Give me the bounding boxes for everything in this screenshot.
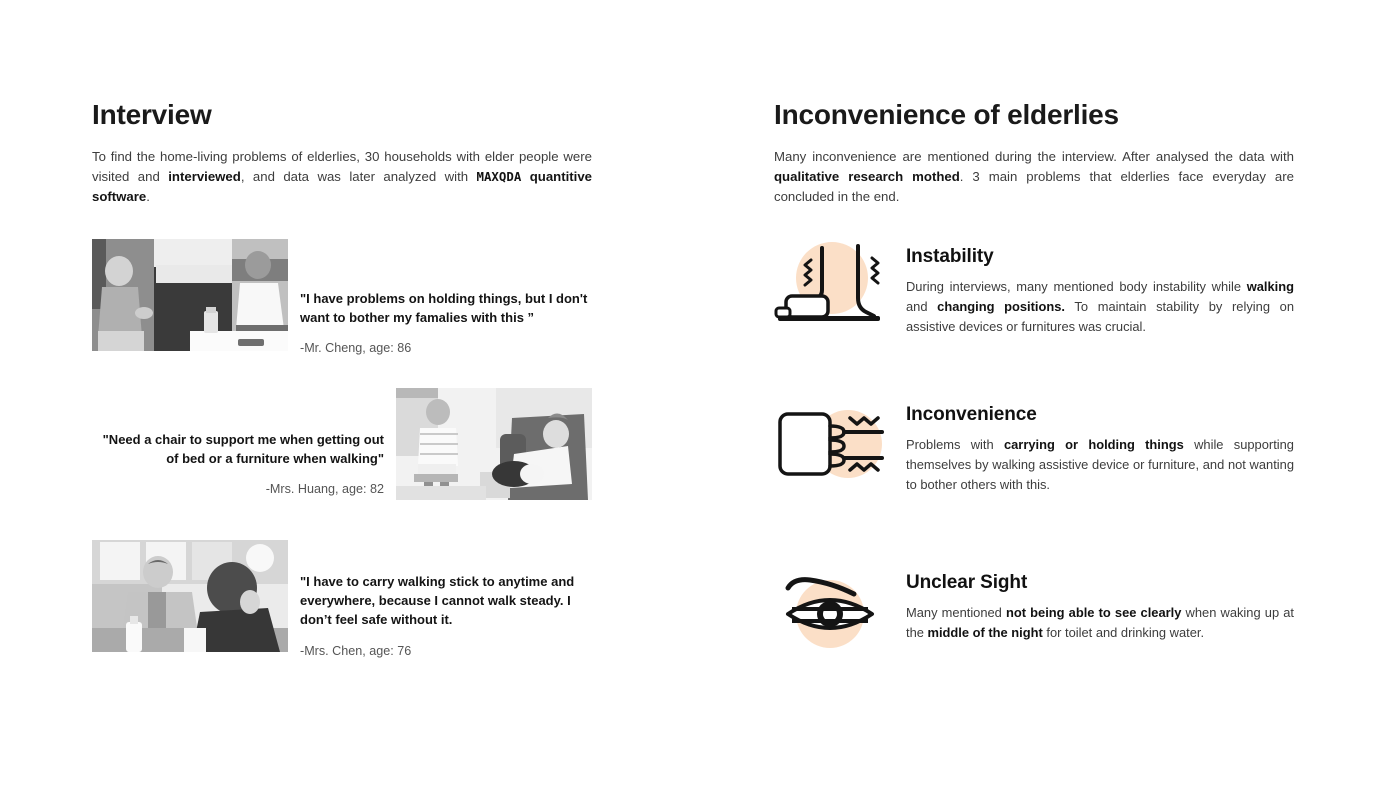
problem-item-unclear-sight: Unclear Sight Many mentioned not being a… xyxy=(774,564,1294,664)
rintro-bold-method: qualitative research mothed xyxy=(774,169,960,184)
problems-column: Inconvenience of elderlies Many inconven… xyxy=(774,100,1294,207)
intro-bold-maxqda: MAXQDA xyxy=(477,169,522,184)
unstable-legs-icon xyxy=(774,238,894,338)
problem-item-instability: Instability During interviews, many ment… xyxy=(774,238,1294,338)
problem-item-inconvenience: Inconvenience Problems with carrying or … xyxy=(774,396,1294,496)
problem-title: Inconvenience xyxy=(906,404,1294,426)
interview-intro-paragraph: To find the home-living problems of elde… xyxy=(92,147,592,207)
interview-attribution: -Mr. Cheng, age: 86 xyxy=(300,341,592,355)
problem-description: Problems with carrying or holding things… xyxy=(906,435,1294,495)
interview-row: "I have problems on holding things, but … xyxy=(92,239,592,355)
eye-unclear-sight-icon xyxy=(774,564,894,664)
interview-attribution: -Mrs. Chen, age: 76 xyxy=(300,644,592,658)
problem-body: Inconvenience Problems with carrying or … xyxy=(894,396,1294,494)
quote-block: "Need a chair to support me when getting… xyxy=(92,388,396,496)
problem-body: Unclear Sight Many mentioned not being a… xyxy=(894,564,1294,643)
problem-title: Unclear Sight xyxy=(906,572,1294,594)
problem-description: Many mentioned not being able to see cle… xyxy=(906,603,1294,643)
interview-attribution: -Mrs. Huang, age: 82 xyxy=(92,482,384,496)
problems-intro-paragraph: Many inconvenience are mentioned during … xyxy=(774,147,1294,207)
rintro-text-1: Many inconvenience are mentioned during … xyxy=(774,149,1294,164)
intro-text-4: . xyxy=(146,189,150,204)
p3-bold-see-clearly: not being able to see clearly xyxy=(1006,605,1181,620)
p1-text-1: During interviews, many mentioned body i… xyxy=(906,279,1247,294)
p1-bold-positions: changing positions. xyxy=(937,299,1065,314)
interview-quote: "Need a chair to support me when getting… xyxy=(92,430,384,468)
intro-text-3 xyxy=(521,169,529,184)
problem-body: Instability During interviews, many ment… xyxy=(894,238,1294,336)
problem-description: During interviews, many mentioned body i… xyxy=(906,277,1294,337)
p3-text-1: Many mentioned xyxy=(906,605,1006,620)
p1-bold-walking: walking xyxy=(1247,279,1294,294)
page-title-interview: Interview xyxy=(92,100,592,131)
p3-bold-midnight: middle of the night xyxy=(928,625,1043,640)
interview-row: "Need a chair to support me when getting… xyxy=(92,388,592,500)
interview-column: Interview To find the home-living proble… xyxy=(92,100,592,207)
p2-text-1: Problems with xyxy=(906,437,1004,452)
quote-block: "I have to carry walking stick to anytim… xyxy=(288,540,592,658)
problem-title: Instability xyxy=(906,246,1294,268)
intro-bold-interviewed: interviewed xyxy=(168,169,241,184)
intro-text-2: , and data was later analyzed with xyxy=(241,169,477,184)
page-title-inconvenience: Inconvenience of elderlies xyxy=(774,100,1294,131)
interview-quote: "I have problems on holding things, but … xyxy=(300,289,592,327)
presentation-slide: Interview To find the home-living proble… xyxy=(0,0,1400,787)
interview-row: "I have to carry walking stick to anytim… xyxy=(92,540,592,658)
interview-photo-1 xyxy=(92,239,288,351)
p3-text-3: for toilet and drinking water. xyxy=(1043,625,1204,640)
interview-photo-2 xyxy=(396,388,592,500)
interview-quote: "I have to carry walking stick to anytim… xyxy=(300,572,592,630)
quote-block: "I have problems on holding things, but … xyxy=(288,239,592,355)
p1-text-2: and xyxy=(906,299,937,314)
interview-photo-3 xyxy=(92,540,288,652)
hand-holding-cup-icon xyxy=(774,396,894,496)
p2-bold-carrying: carrying or holding things xyxy=(1004,437,1184,452)
